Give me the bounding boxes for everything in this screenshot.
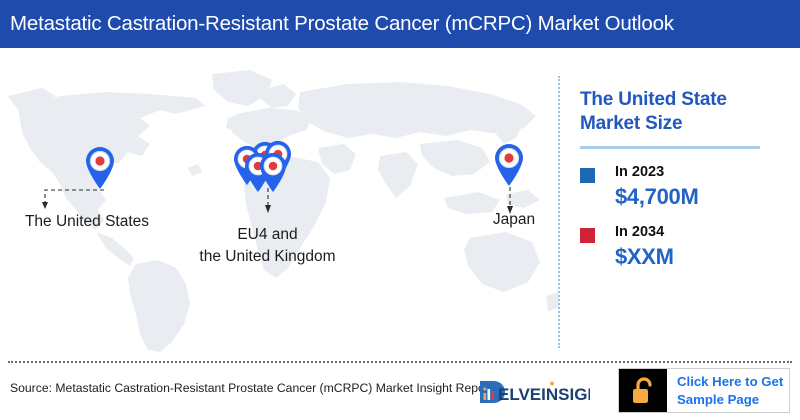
stat-year-2023: In 2023 <box>615 165 699 181</box>
stat-row-2034: In 2034 $XXM <box>580 225 790 269</box>
map-pin-united-states[interactable] <box>84 146 116 190</box>
map-pin-eu-5[interactable] <box>258 152 288 193</box>
unlock-icon <box>619 369 667 412</box>
map-label-japan: Japan <box>478 209 550 231</box>
stat-text-2023: In 2023 $4,700M <box>615 165 699 209</box>
cta-label-line1: Click Here to Get <box>677 373 783 390</box>
stat-value-2034: $XXM <box>615 245 674 269</box>
panel-title-line1: The United State <box>580 88 790 112</box>
map-label-eu-line1: EU4 and <box>180 224 355 246</box>
stat-year-2034: In 2034 <box>615 225 674 241</box>
page-title: Metastatic Castration-Resistant Prostate… <box>0 12 674 36</box>
horizontal-dotted-divider <box>8 361 792 363</box>
panel-title-line2: Market Size <box>580 112 790 136</box>
cta-label: Click Here to Get Sample Page <box>667 369 789 412</box>
panel-title: The United State Market Size <box>580 88 790 137</box>
stat-value-2023: $4,700M <box>615 185 699 209</box>
stat-text-2034: In 2034 $XXM <box>615 225 674 269</box>
cta-label-line2: Sample Page <box>677 391 783 408</box>
vertical-dotted-divider <box>558 76 560 348</box>
swatch-2023 <box>580 168 595 183</box>
world-map-region: The United States EU4 and the United Kin… <box>0 48 560 358</box>
delveinsight-logo: ELVEINSIGHT <box>478 378 590 406</box>
stat-row-2023: In 2023 $4,700M <box>580 165 790 209</box>
map-label-united-states: The United States <box>12 211 162 233</box>
page-header: Metastatic Castration-Resistant Prostate… <box>0 0 800 48</box>
map-label-eu-uk: EU4 and the United Kingdom <box>180 224 355 269</box>
panel-underline <box>580 146 760 149</box>
map-label-eu-line2: the United Kingdom <box>180 246 355 268</box>
logo-wordmark: ELVEINSIGHT <box>498 385 590 404</box>
map-pin-japan[interactable] <box>493 143 525 187</box>
market-size-panel: The United State Market Size In 2023 $4,… <box>580 88 790 269</box>
swatch-2034 <box>580 228 595 243</box>
source-citation: Source: Metastatic Castration-Resistant … <box>10 381 492 395</box>
leader-line-united-states <box>40 188 110 210</box>
sample-page-cta-button[interactable]: Click Here to Get Sample Page <box>618 368 790 413</box>
